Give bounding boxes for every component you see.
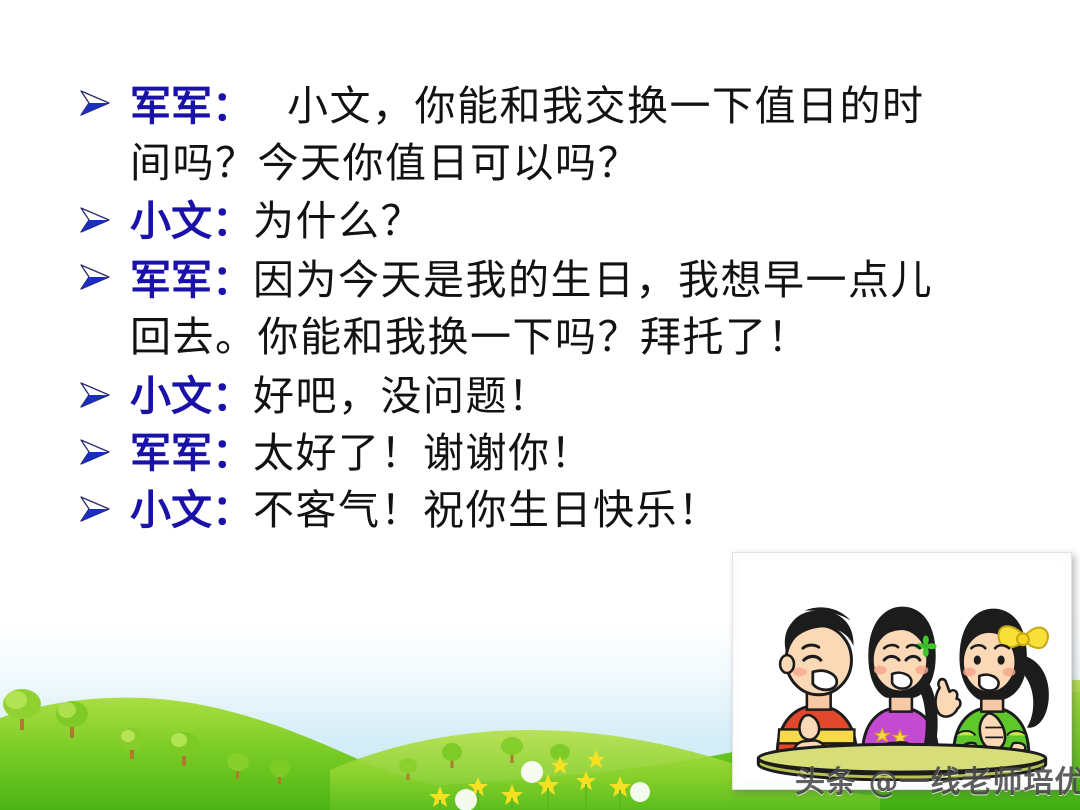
speaker-name: 军军： <box>130 429 253 477</box>
watermark-text: 头条 @一线老师培优 <box>795 757 1080 801</box>
speech-text-line-2: 回去。你能和我换一下吗？拜托了！ <box>130 314 810 360</box>
speech-text-line-1: 小文，你能和我交换一下值日的时 <box>253 83 925 129</box>
dialogue-item: 军军：因为今天是我的生日，我想早一点儿 回去。你能和我换一下吗？拜托了！ <box>0 252 1080 365</box>
speech-text-line-2: 间吗？今天你值日可以吗？ <box>130 140 640 186</box>
speech-text-line-1: 因为今天是我的生日，我想早一点儿 <box>253 257 933 303</box>
speech-text-line-1: 不客气！祝你生日快乐！ <box>253 487 721 533</box>
dialogue-item: 军军：小文，你能和我交换一下值日的时 间吗？今天你值日可以吗？ <box>0 78 1080 191</box>
dialogue-item: 军军：太好了！谢谢你！ <box>0 427 1080 480</box>
dialogue-item: 小文：好吧，没问题！ <box>0 370 1080 423</box>
arrow-bullet-icon <box>78 380 112 410</box>
speaker-name: 小文： <box>130 486 253 534</box>
arrow-bullet-icon <box>78 494 112 524</box>
arrow-bullet-icon <box>78 262 112 292</box>
arrow-bullet-icon <box>78 205 112 235</box>
speech-text-line-1: 为什么？ <box>253 198 423 244</box>
picture-frame <box>732 552 1072 790</box>
speech-text-line-1: 好吧，没问题！ <box>253 373 551 419</box>
speaker-name: 小文： <box>130 197 253 245</box>
dialogue-item: 小文：不客气！祝你生日快乐！ <box>0 484 1080 537</box>
arrow-bullet-icon <box>78 437 112 467</box>
dialogue-list: 军军：小文，你能和我交换一下值日的时 间吗？今天你值日可以吗？ 小文：为什么？ <box>0 78 1080 542</box>
speech-text-line-1: 太好了！谢谢你！ <box>253 430 593 476</box>
speaker-name: 小文： <box>130 372 253 420</box>
speaker-name: 军军： <box>130 256 253 304</box>
arrow-bullet-icon <box>78 88 112 118</box>
slide-canvas: 军军：小文，你能和我交换一下值日的时 间吗？今天你值日可以吗？ 小文：为什么？ <box>0 0 1080 810</box>
dialogue-item: 小文：为什么？ <box>0 195 1080 248</box>
speaker-name: 军军： <box>130 82 253 130</box>
three-children-at-desk-illustration <box>741 561 1063 781</box>
